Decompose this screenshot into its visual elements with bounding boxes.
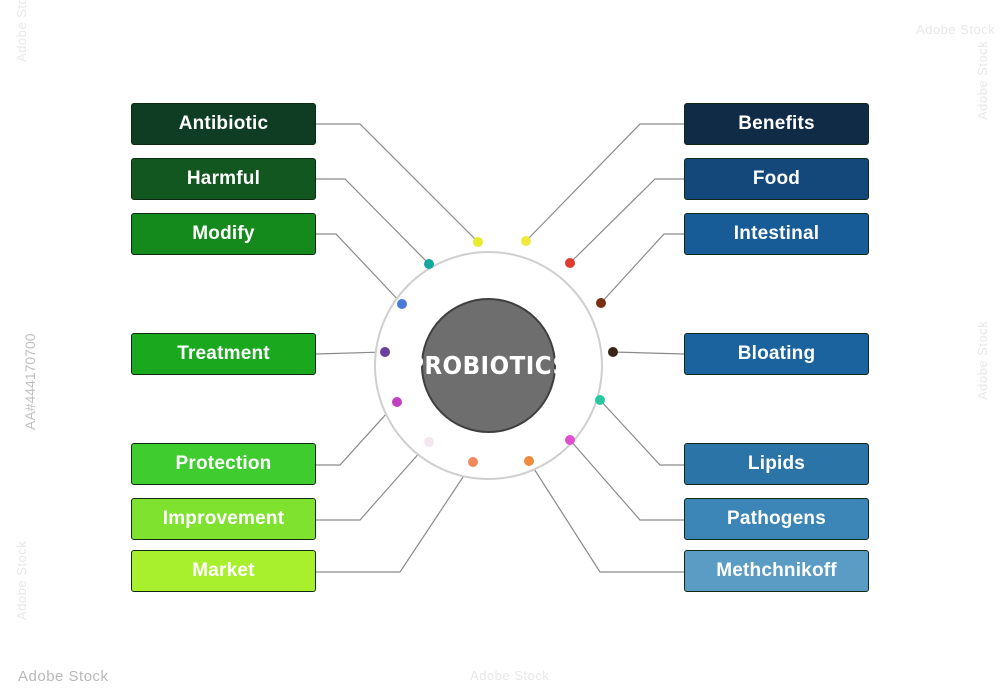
node-label: Modify bbox=[192, 223, 254, 245]
node-protection[interactable]: Protection bbox=[131, 443, 316, 485]
node-label: Food bbox=[753, 168, 800, 190]
ring-dot-improvement bbox=[424, 437, 434, 447]
node-label: Methchnikoff bbox=[716, 560, 837, 582]
ring-dot-modify bbox=[397, 299, 407, 309]
ring-dot-methchnikoff bbox=[524, 456, 534, 466]
node-intestinal[interactable]: Intestinal bbox=[684, 213, 869, 255]
ring-dot-harmful bbox=[424, 259, 434, 269]
node-methchnikoff[interactable]: Methchnikoff bbox=[684, 550, 869, 592]
hub-label: PROBIOTICS bbox=[407, 351, 569, 380]
node-label: Benefits bbox=[738, 113, 815, 135]
ring-dot-pathogens bbox=[565, 435, 575, 445]
node-improvement[interactable]: Improvement bbox=[131, 498, 316, 540]
node-label: Market bbox=[192, 560, 254, 582]
hub-circle: PROBIOTICS bbox=[421, 298, 556, 433]
ring-dot-bloating bbox=[608, 347, 618, 357]
ring-dot-protection bbox=[392, 397, 402, 407]
node-label: Protection bbox=[176, 453, 272, 475]
diagram-canvas: Adobe Stock Adobe Stock Adobe Stock Adob… bbox=[0, 0, 1000, 695]
node-pathogens[interactable]: Pathogens bbox=[684, 498, 869, 540]
ring-dot-antibiotic bbox=[473, 237, 483, 247]
node-harmful[interactable]: Harmful bbox=[131, 158, 316, 200]
node-label: Improvement bbox=[163, 508, 285, 530]
ring-dot-lipids bbox=[595, 395, 605, 405]
ring-dot-benefits bbox=[521, 236, 531, 246]
ring-dot-market bbox=[468, 457, 478, 467]
node-label: Bloating bbox=[738, 343, 816, 365]
ring-dot-intestinal bbox=[596, 298, 606, 308]
node-bloating[interactable]: Bloating bbox=[684, 333, 869, 375]
node-label: Lipids bbox=[748, 453, 805, 475]
node-modify[interactable]: Modify bbox=[131, 213, 316, 255]
node-lipids[interactable]: Lipids bbox=[684, 443, 869, 485]
node-market[interactable]: Market bbox=[131, 550, 316, 592]
node-food[interactable]: Food bbox=[684, 158, 869, 200]
node-label: Harmful bbox=[187, 168, 260, 190]
node-label: Treatment bbox=[177, 343, 270, 365]
node-label: Pathogens bbox=[727, 508, 826, 530]
node-label: Antibiotic bbox=[179, 113, 269, 135]
node-label: Intestinal bbox=[734, 223, 819, 245]
ring-dot-treatment bbox=[380, 347, 390, 357]
ring-dot-food bbox=[565, 258, 575, 268]
node-antibiotic[interactable]: Antibiotic bbox=[131, 103, 316, 145]
node-benefits[interactable]: Benefits bbox=[684, 103, 869, 145]
node-treatment[interactable]: Treatment bbox=[131, 333, 316, 375]
